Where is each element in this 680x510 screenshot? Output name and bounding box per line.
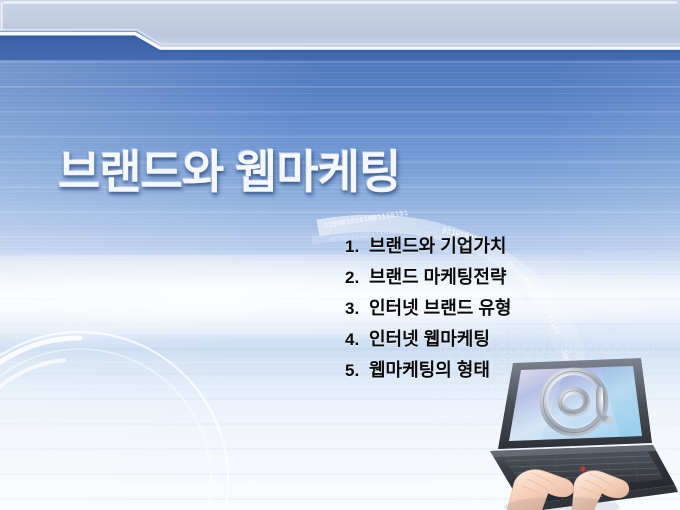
agenda-item[interactable]: 3. 인터넷 브랜드 유형	[345, 293, 665, 324]
agenda-item[interactable]: 2. 브랜드 마케팅전략	[345, 262, 665, 293]
agenda-item-number: 2.	[345, 262, 369, 293]
top-banner	[0, 0, 680, 60]
agenda-item-number: 5.	[345, 355, 369, 386]
agenda-item[interactable]: 1. 브랜드와 기업가치	[345, 231, 665, 262]
agenda-item-number: 4.	[345, 324, 369, 355]
agenda-item-number: 1.	[345, 231, 369, 262]
agenda-item-label: 브랜드와 기업가치	[369, 231, 506, 262]
presentation-slide: 1100010101001110101 0110100110 10110010 …	[0, 0, 680, 510]
agenda-item-label: 인터넷 웹마케팅	[369, 324, 490, 355]
agenda-item-label: 브랜드 마케팅전략	[369, 262, 506, 293]
agenda-item-number: 3.	[345, 293, 369, 324]
agenda-item-label: 인터넷 브랜드 유형	[369, 293, 511, 324]
slide-title: 브랜드와 웹마케팅	[58, 143, 478, 201]
laptop-with-hands-illustration	[470, 355, 680, 510]
concentric-arc-decoration	[0, 330, 260, 510]
agenda-item[interactable]: 4. 인터넷 웹마케팅	[345, 324, 665, 355]
